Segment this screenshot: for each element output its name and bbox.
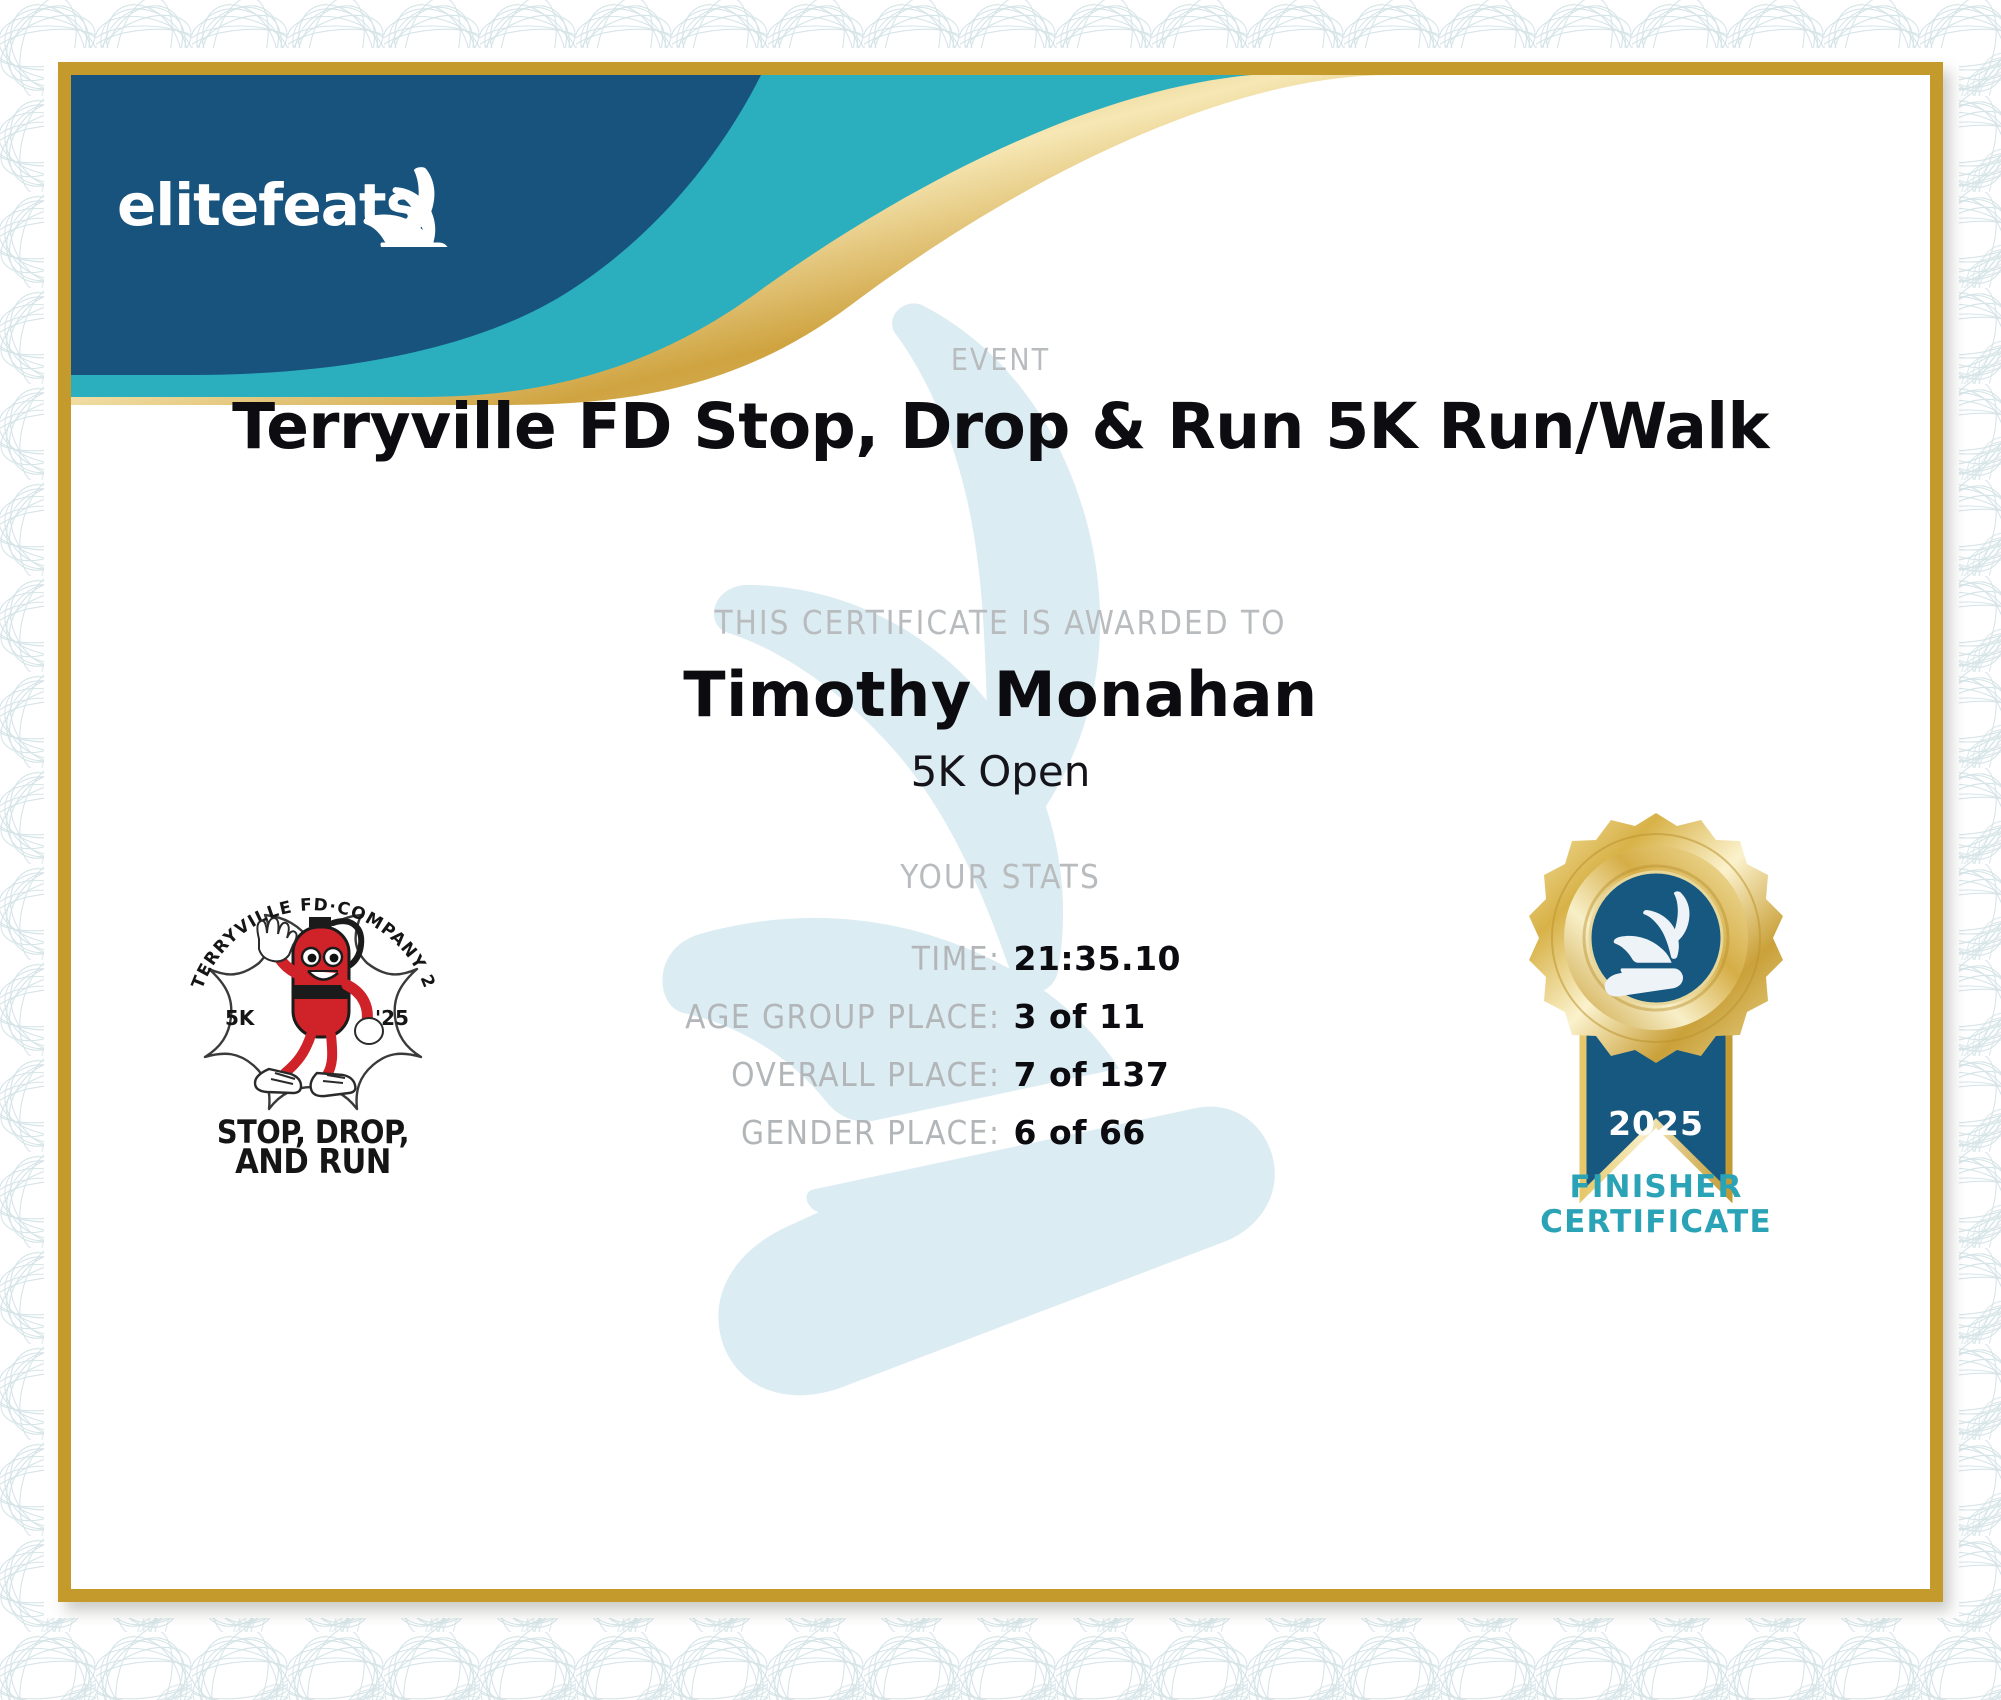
race-logo-left-badge: 5K bbox=[225, 1006, 256, 1030]
stat-label-age-group-place: AGE GROUP PLACE: bbox=[441, 997, 1001, 1036]
race-logo-line2: AND RUN bbox=[235, 1142, 391, 1175]
stat-label-gender-place: GENDER PLACE: bbox=[441, 1113, 1001, 1152]
event-kicker-label: EVENT bbox=[71, 343, 1930, 378]
event-title: Terryville FD Stop, Drop & Run 5K Run/Wa… bbox=[71, 390, 1930, 463]
certificate-page: elitefeats EVENT Terryville FD Stop, Dro… bbox=[0, 0, 2001, 1700]
stat-value-gender-place: 6 of 66 bbox=[1001, 1113, 1561, 1152]
certificate-body: elitefeats EVENT Terryville FD Stop, Dro… bbox=[71, 75, 1930, 1589]
stat-label-overall-place: OVERALL PLACE: bbox=[441, 1055, 1001, 1094]
stat-value-age-group-place: 3 of 11 bbox=[1001, 997, 1561, 1036]
badge-year: 2025 bbox=[1608, 1104, 1704, 1143]
awarded-to-label: THIS CERTIFICATE IS AWARDED TO bbox=[71, 603, 1930, 642]
finisher-caption-line1: FINISHER bbox=[1471, 1170, 1841, 1205]
finisher-caption-line2: CERTIFICATE bbox=[1471, 1205, 1841, 1240]
fire-extinguisher-mascot-icon bbox=[255, 917, 383, 1096]
recipient-name: Timothy Monahan bbox=[71, 658, 1930, 731]
division-label: 5K Open bbox=[71, 747, 1930, 796]
race-event-logo: TERRYVILLE FD·COMPANY 2 5K '25 bbox=[181, 865, 446, 1175]
svg-text:elitefeats: elitefeats bbox=[117, 171, 419, 239]
elitefeats-logo: elitefeats bbox=[117, 163, 457, 247]
finisher-badge: 2025 bbox=[1511, 805, 1801, 1230]
certificate-frame: elitefeats EVENT Terryville FD Stop, Dro… bbox=[58, 62, 1943, 1602]
stat-value-time: 21:35.10 bbox=[1001, 939, 1561, 978]
gold-medal-rosette-icon bbox=[1529, 813, 1783, 1063]
stat-label-time: TIME: bbox=[441, 939, 1001, 978]
finisher-caption: FINISHER CERTIFICATE bbox=[1471, 1170, 1841, 1239]
stat-value-overall-place: 7 of 137 bbox=[1001, 1055, 1561, 1094]
